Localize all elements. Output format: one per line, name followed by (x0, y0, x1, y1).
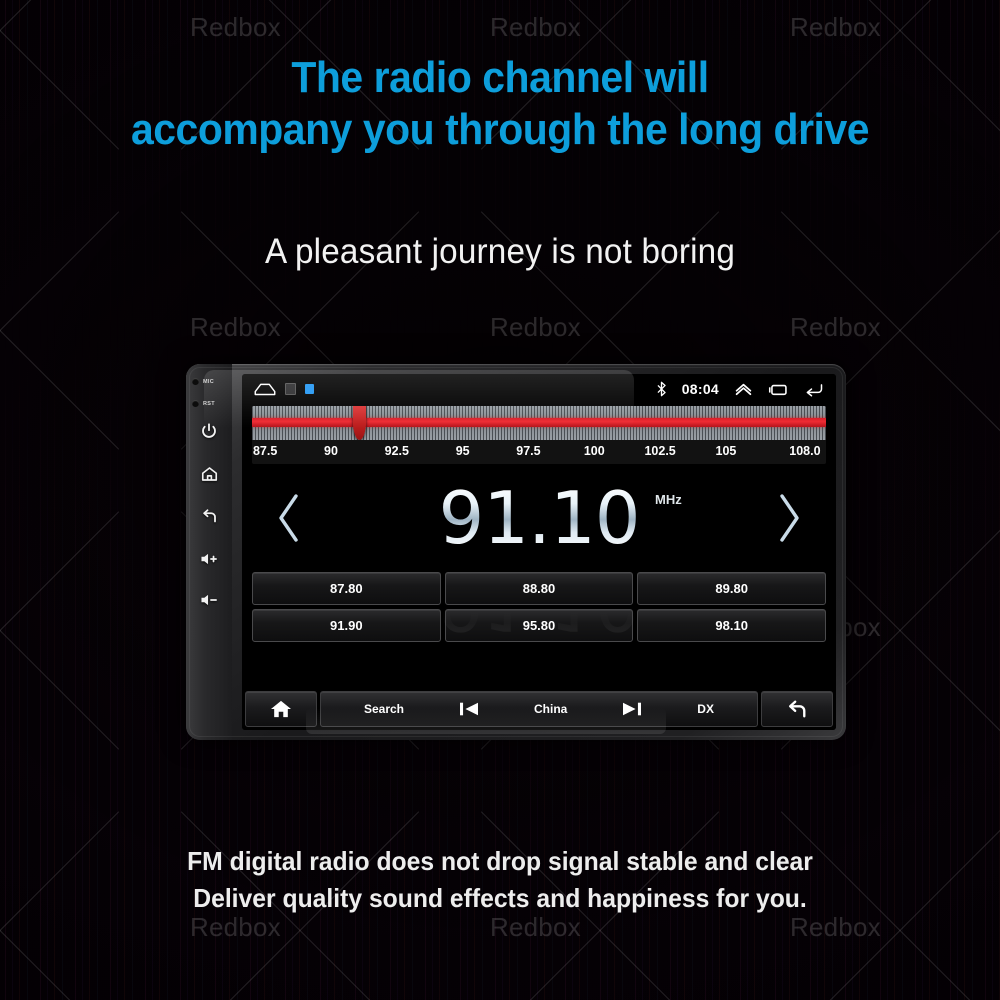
prev-station-button[interactable] (272, 491, 306, 545)
device-screen: 08:04 (242, 374, 836, 730)
scale-label: 97.5 (516, 444, 540, 458)
tuner-controls-bar: Search China DX (320, 691, 758, 727)
reset-hole[interactable]: RST (186, 400, 232, 407)
headline-line-2: accompany you through the long drive (35, 104, 965, 156)
status-bar-right: 08:04 (656, 381, 824, 397)
mic-hole: MIC (186, 378, 232, 385)
preset-button[interactable]: 91.90 (252, 609, 441, 642)
scale-label: 92.5 (385, 444, 409, 458)
notification-square-icon[interactable] (305, 384, 314, 394)
home-icon (270, 699, 292, 719)
preset-button[interactable]: 98.10 (637, 609, 826, 642)
car-head-unit: MIC RST (186, 364, 846, 740)
preset-button[interactable]: 89.80 (637, 572, 826, 605)
home-button[interactable] (186, 465, 232, 483)
power-button[interactable] (186, 422, 232, 440)
prev-track-button[interactable] (458, 700, 480, 718)
current-frequency: 91.10 (438, 482, 639, 554)
home-button[interactable] (245, 691, 317, 727)
scale-label: 102.5 (644, 444, 675, 458)
region-button[interactable]: China (534, 702, 567, 716)
volume-up-icon (200, 551, 219, 567)
power-icon (200, 422, 218, 440)
tuning-scale-strip (252, 406, 826, 440)
page-footnote: FM digital radio does not drop signal st… (25, 843, 975, 917)
volume-down-icon (200, 592, 219, 608)
back-arrow-icon (200, 508, 218, 526)
tuning-scale[interactable]: 87.59092.59597.5100102.5105108.0 (252, 406, 826, 464)
tuning-red-band (252, 418, 826, 427)
back-arrow-icon[interactable] (804, 382, 824, 397)
bluetooth-icon (656, 381, 667, 397)
next-track-icon (621, 700, 643, 718)
sensitivity-button[interactable]: DX (697, 702, 714, 716)
status-bar-left (254, 382, 314, 396)
scale-label: 87.5 (253, 444, 277, 458)
home-icon[interactable] (254, 382, 276, 396)
scale-label: 105 (716, 444, 737, 458)
reset-hole-dot (192, 400, 199, 407)
scale-label: 108.0 (789, 444, 820, 458)
clock-text: 08:04 (682, 381, 719, 397)
scale-label: 90 (324, 444, 338, 458)
next-track-button[interactable] (621, 700, 643, 718)
preset-button[interactable]: 87.80 (252, 572, 441, 605)
app-square-icon[interactable] (285, 383, 296, 395)
back-button[interactable] (761, 691, 833, 727)
frequency-display-area: 91.10 91.10 MHz (242, 464, 836, 572)
frequency-unit: MHz (655, 492, 682, 507)
footnote-line-2: Deliver quality sound effects and happin… (25, 880, 975, 917)
volume-down-button[interactable] (186, 592, 232, 608)
search-button[interactable]: Search (364, 702, 404, 716)
bottom-toolbar: Search China DX (242, 688, 836, 730)
scale-label: 95 (456, 444, 470, 458)
prev-track-icon (458, 700, 480, 718)
footnote-line-1: FM digital radio does not drop signal st… (25, 843, 975, 880)
chevron-up-icon[interactable] (734, 382, 753, 396)
current-frequency-reflection: 91.10 (438, 568, 639, 640)
tuning-ticks-bottom (252, 427, 826, 440)
page-subheadline: A pleasant journey is not boring (25, 232, 975, 272)
next-station-button[interactable] (772, 491, 806, 545)
device-left-bezel: MIC RST (186, 364, 232, 740)
scale-label: 100 (584, 444, 605, 458)
back-arrow-icon (786, 699, 808, 719)
reset-label: RST (203, 401, 215, 407)
poster-page: RedboxRedboxRedboxRedboxRedboxRedboxRedb… (0, 0, 1000, 1000)
back-button[interactable] (186, 508, 232, 526)
tuning-scale-labels: 87.59092.59597.5100102.5105108.0 (252, 440, 826, 464)
volume-up-button[interactable] (186, 551, 232, 567)
mic-label: MIC (203, 379, 214, 385)
recents-icon[interactable] (768, 382, 789, 397)
home-icon (200, 465, 219, 483)
headline-line-1: The radio channel will (291, 53, 708, 102)
mic-hole-dot (192, 378, 199, 385)
android-status-bar: 08:04 (242, 374, 836, 404)
page-headline: The radio channel will accompany you thr… (35, 52, 965, 156)
